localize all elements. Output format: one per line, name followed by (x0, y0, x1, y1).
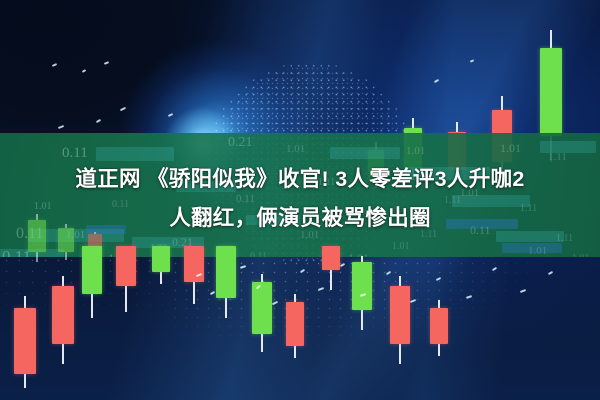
band-number: 1.01 (500, 141, 521, 156)
candlestick-body (216, 246, 236, 298)
band-number: 1.01 (286, 143, 305, 155)
candlestick-body (116, 246, 136, 286)
band-number: 1.01 (392, 241, 410, 252)
headline-line-1: 道正网 《骄阳似我》收官! 3人零差评3人升咖2 (8, 160, 592, 199)
headline-text: 道正网 《骄阳似我》收官! 3人零差评3人升咖2 人翻红，俩演员被骂惨出圈 (0, 160, 600, 238)
candlestick-down (322, 246, 340, 290)
headline-line-2: 人翻红，俩演员被骂惨出圈 (8, 199, 592, 238)
candlestick-down (430, 300, 448, 356)
candlestick-body (82, 246, 102, 294)
news-thumbnail-image: 0.110.211.010.110.111.011.010.111.010.21… (0, 0, 600, 400)
candlestick-body (322, 246, 340, 270)
candlestick-body (252, 282, 272, 334)
candlestick-up (252, 274, 272, 352)
candlestick-body (152, 246, 170, 272)
candlestick-up (152, 246, 170, 284)
candlestick-body (352, 262, 372, 310)
candlestick-down (286, 294, 304, 358)
candlestick-down (390, 276, 410, 364)
candlestick-body (14, 308, 36, 374)
candlestick-body (430, 308, 448, 344)
candlestick-down (52, 276, 74, 364)
candlestick-body (390, 286, 410, 344)
band-number: 0.11 (2, 247, 31, 257)
candlestick-down (14, 296, 36, 388)
candlestick-down (116, 246, 136, 312)
candlestick-up (216, 246, 236, 318)
band-number: 0.11 (250, 251, 267, 257)
candlestick-body (52, 286, 74, 344)
candlestick-body (286, 302, 304, 346)
candlestick-up (82, 246, 102, 318)
band-number: 0.21 (228, 135, 253, 151)
band-number: 1.01 (528, 245, 547, 257)
band-number: 1.01 (572, 253, 590, 257)
band-number: 1.01 (406, 145, 425, 157)
candlestick-body (540, 48, 562, 136)
candlestick-body (184, 246, 204, 282)
